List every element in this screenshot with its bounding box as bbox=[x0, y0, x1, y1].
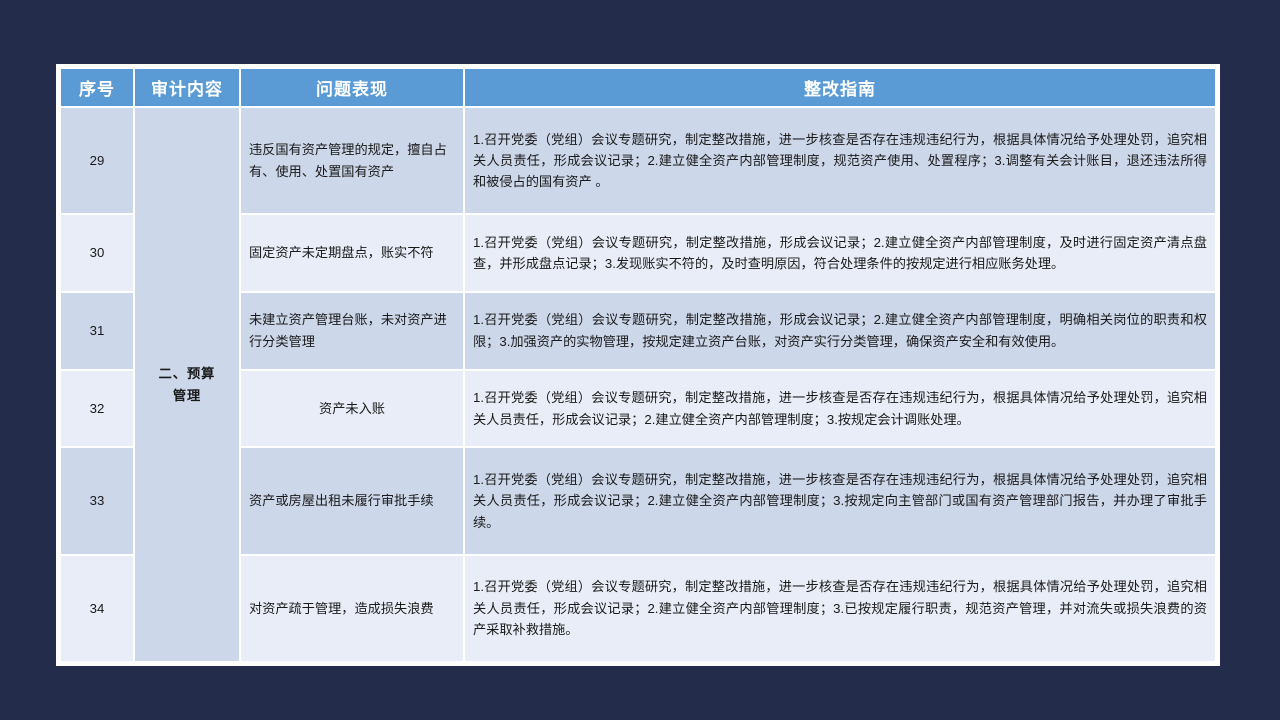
category-label-line-2: 管理 bbox=[143, 385, 231, 406]
cell-issue-description: 资产或房屋出租未履行审批手续 bbox=[241, 448, 463, 553]
cell-issue-description: 未建立资产管理台账，未对资产进行分类管理 bbox=[241, 293, 463, 369]
cell-issue-description: 对资产疏于管理，造成损失浪费 bbox=[241, 556, 463, 661]
cell-issue-description: 资产未入账 bbox=[241, 371, 463, 447]
table-row: 29 二、预算 管理 违反国有资产管理的规定，擅自占有、使用、处置国有资产 1.… bbox=[61, 108, 1215, 213]
cell-rectification-guide: 1.召开党委（党组）会议专题研究，制定整改措施，进一步核查是否存在违规违纪行为，… bbox=[465, 556, 1215, 661]
table-header: 序号 审计内容 问题表现 整改指南 bbox=[61, 69, 1215, 106]
column-header-seq: 序号 bbox=[61, 69, 133, 106]
cell-audit-category: 二、预算 管理 bbox=[135, 108, 239, 661]
table-header-row: 序号 审计内容 问题表现 整改指南 bbox=[61, 69, 1215, 106]
audit-rectification-table: 序号 审计内容 问题表现 整改指南 29 二、预算 管理 违反国有资产管理的规定… bbox=[59, 67, 1217, 663]
cell-sequence-number: 32 bbox=[61, 371, 133, 447]
cell-rectification-guide: 1.召开党委（党组）会议专题研究，制定整改措施，进一步核查是否存在违规违纪行为，… bbox=[465, 448, 1215, 553]
cell-sequence-number: 34 bbox=[61, 556, 133, 661]
cell-issue-description: 固定资产未定期盘点，账实不符 bbox=[241, 215, 463, 291]
column-header-guide: 整改指南 bbox=[465, 69, 1215, 106]
cell-rectification-guide: 1.召开党委（党组）会议专题研究，制定整改措施，进一步核查是否存在违规违纪行为，… bbox=[465, 108, 1215, 213]
slide-canvas: 序号 审计内容 问题表现 整改指南 29 二、预算 管理 违反国有资产管理的规定… bbox=[0, 0, 1280, 720]
category-label-line-1: 二、预算 bbox=[143, 363, 231, 384]
audit-table-container: 序号 审计内容 问题表现 整改指南 29 二、预算 管理 违反国有资产管理的规定… bbox=[56, 64, 1220, 666]
column-header-audit-content: 审计内容 bbox=[135, 69, 239, 106]
cell-rectification-guide: 1.召开党委（党组）会议专题研究，制定整改措施，形成会议记录；2.建立健全资产内… bbox=[465, 215, 1215, 291]
cell-sequence-number: 30 bbox=[61, 215, 133, 291]
cell-rectification-guide: 1.召开党委（党组）会议专题研究，制定整改措施，形成会议记录；2.建立健全资产内… bbox=[465, 293, 1215, 369]
cell-sequence-number: 31 bbox=[61, 293, 133, 369]
cell-sequence-number: 29 bbox=[61, 108, 133, 213]
cell-rectification-guide: 1.召开党委（党组）会议专题研究，制定整改措施，进一步核查是否存在违规违纪行为，… bbox=[465, 371, 1215, 447]
cell-issue-description: 违反国有资产管理的规定，擅自占有、使用、处置国有资产 bbox=[241, 108, 463, 213]
table-body: 29 二、预算 管理 违反国有资产管理的规定，擅自占有、使用、处置国有资产 1.… bbox=[61, 108, 1215, 661]
cell-sequence-number: 33 bbox=[61, 448, 133, 553]
column-header-issue: 问题表现 bbox=[241, 69, 463, 106]
